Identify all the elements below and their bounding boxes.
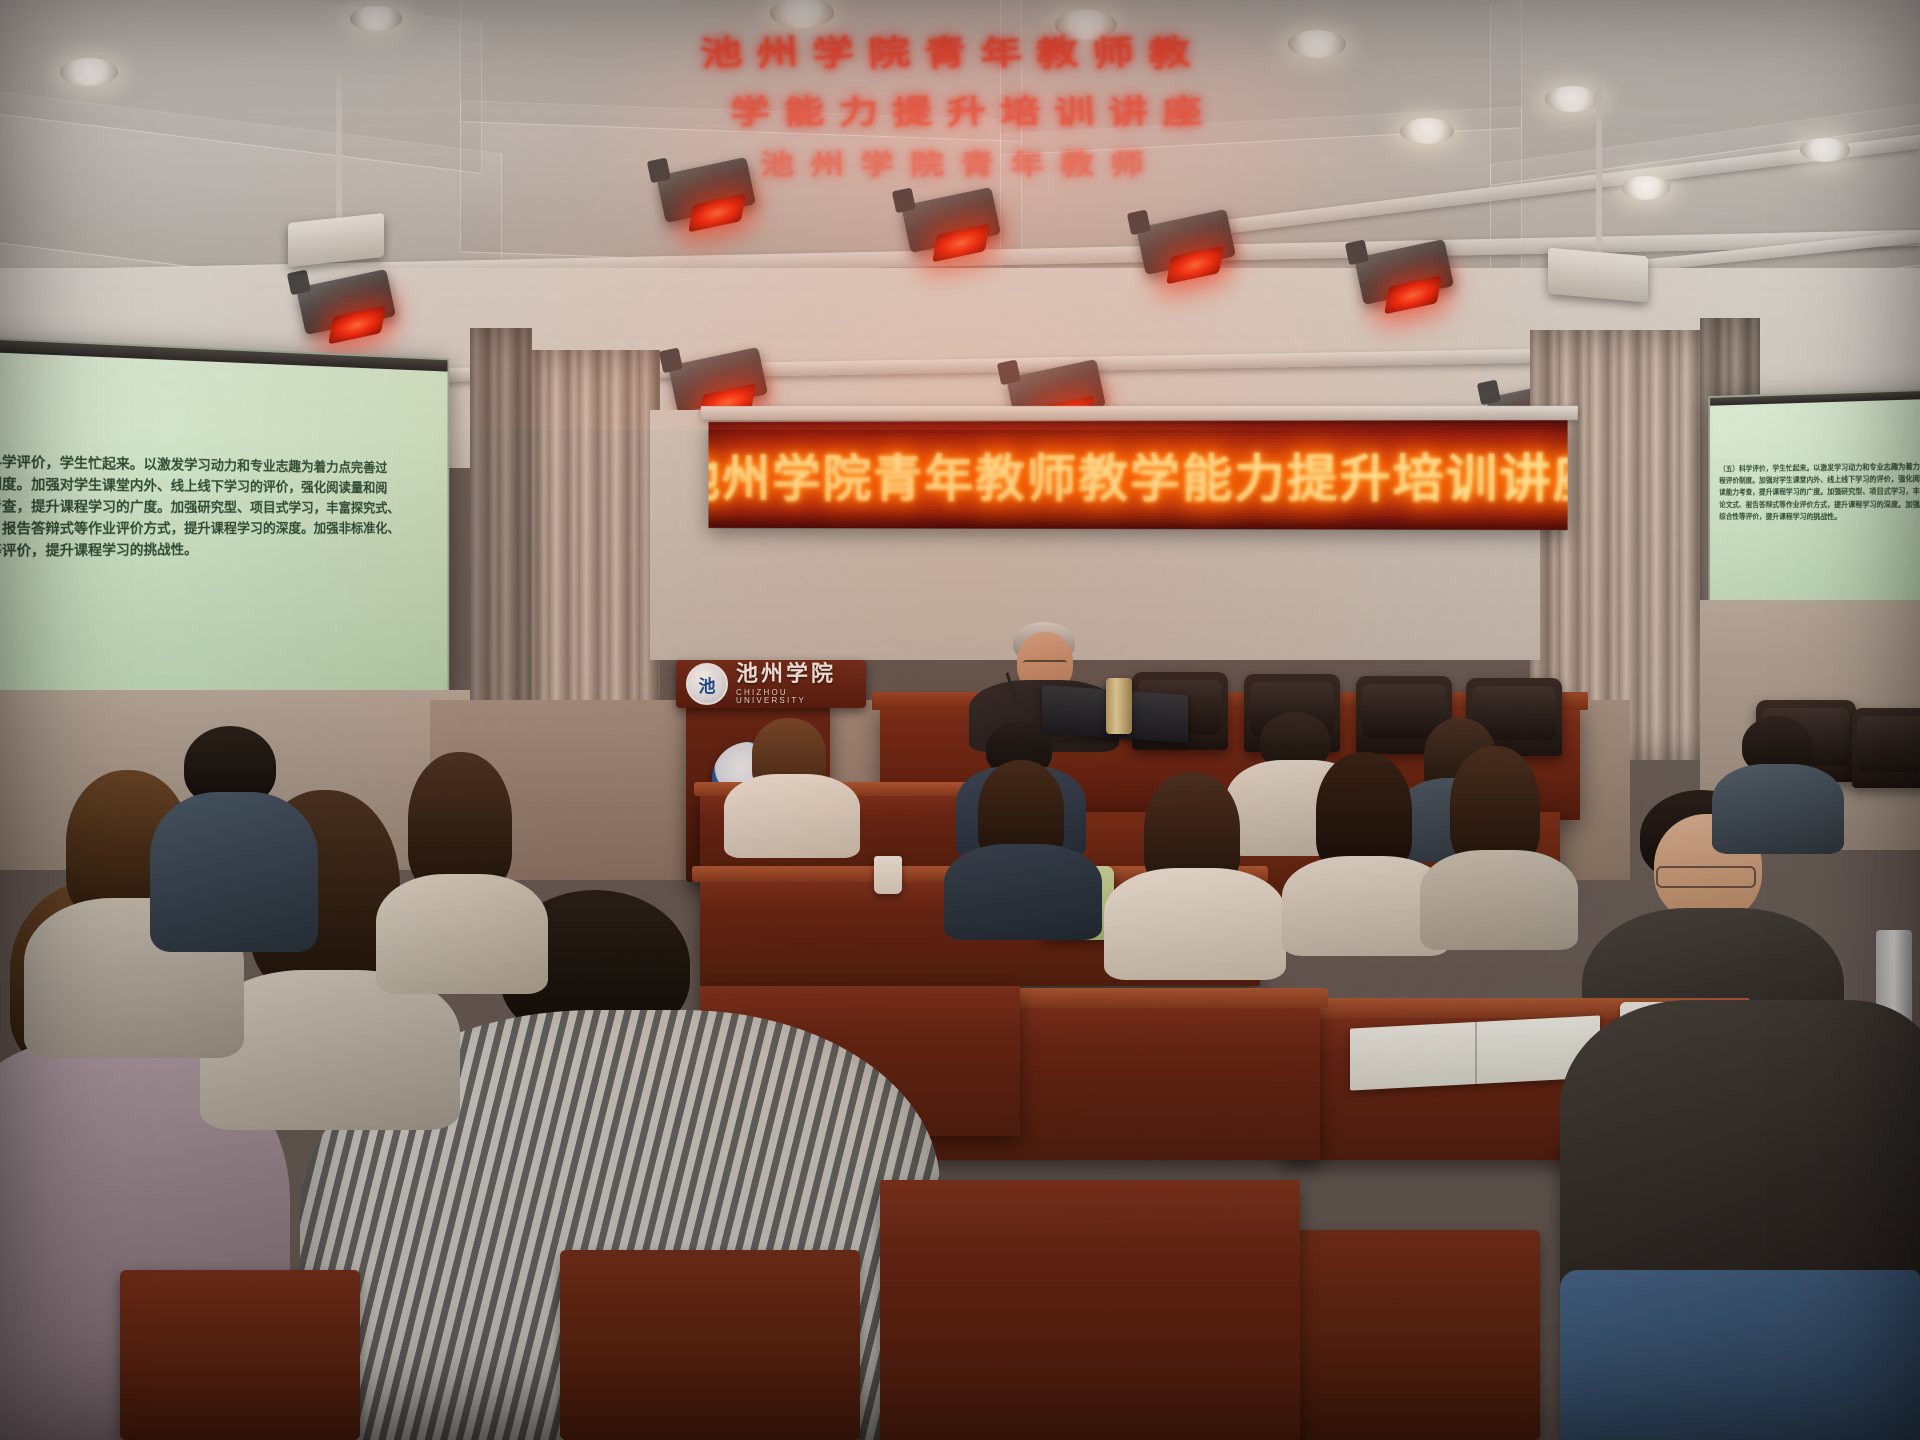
ceiling-downlight (1545, 86, 1599, 112)
lecture-hall-photo: 池州学院青年教师教学能力提升培训讲座池州学院青年教师 池州学院青年教师教学能力提… (0, 0, 1920, 1440)
attendee-jeans (1560, 1270, 1920, 1440)
podium-nameplate: 池 池州学院 CHIZHOU UNIVERSITY (676, 660, 866, 708)
led-banner: 池州学院青年教师教学能力提升培训讲座 (708, 417, 1567, 530)
led-banner-text: 池州学院青年教师教学能力提升培训讲座 (708, 438, 1567, 512)
attendee-foreground (1560, 880, 1920, 1300)
attendee (948, 760, 1098, 930)
audience-chair[interactable] (560, 1250, 860, 1440)
attendee (726, 718, 856, 848)
reflection-character: 州 (754, 25, 799, 77)
reflection-character: 培 (999, 85, 1041, 133)
attendee (1110, 772, 1280, 972)
paper-cup (874, 856, 902, 894)
attendee-body (1104, 868, 1286, 980)
reflection-character: 学 (810, 25, 855, 77)
reflection-character: 提 (891, 85, 933, 133)
slide-line: 读能力考查，提升课程学习的广度。加强研究型、项目式学习，丰富探究式、 (1719, 486, 1920, 500)
reflection-character: 年 (1009, 142, 1044, 182)
left-screen: （五）科学评价，学生忙起来。以激发学习动力和专业志趣为着力点完善过 程评价制度。… (0, 336, 449, 716)
ceiling-downlight (60, 58, 118, 86)
emblem-glyph: 池 (699, 672, 716, 697)
reflection-character: 升 (945, 85, 987, 133)
audience-chair[interactable] (120, 1270, 360, 1440)
reflection-character: 池 (759, 142, 794, 182)
reflection-character: 讲 (1107, 85, 1149, 133)
reflection-character: 学 (729, 85, 771, 133)
presenter-glasses-icon (1023, 660, 1067, 671)
attendee (1712, 716, 1842, 846)
reflection-character: 训 (1053, 85, 1095, 133)
reflection-character: 教 (1034, 25, 1079, 77)
reflection-character: 青 (959, 142, 994, 182)
podium-cn-name: 池州学院 (736, 664, 856, 686)
reflection-character: 教 (1059, 142, 1094, 182)
attendee (150, 726, 310, 946)
attendee-hair (1450, 746, 1540, 866)
slide-line: 论文式、报告答辩式等作业评价方式，提升课程学习的深度。加强非标准化、 (0, 518, 449, 540)
attendee-body (944, 844, 1102, 940)
stage-curtain-left-inner (470, 328, 532, 748)
stage-chair[interactable] (1852, 708, 1920, 788)
podium-en-name: CHIZHOU UNIVERSITY (736, 689, 856, 705)
audience-desk-foreground (880, 1180, 1300, 1440)
reflection-character: 能 (783, 85, 825, 133)
reflection-character: 池 (698, 25, 743, 77)
reflection-character: 州 (809, 142, 844, 182)
banner-top-trim (701, 406, 1578, 420)
reflection-character: 教 (1146, 25, 1191, 77)
slide-line: 综合性等评价，提升课程学习的挑战性。 (0, 539, 449, 563)
slide-line: 读能力考查，提升课程学习的广度。加强研究型、项目式学习，丰富探究式、 (0, 496, 449, 519)
thermos-flask (1106, 678, 1132, 734)
attendee (380, 752, 540, 982)
ceiling-downlight (1622, 176, 1670, 200)
reflection-character: 座 (1161, 85, 1203, 133)
projector-mount-arm (336, 72, 342, 220)
reflection-character: 学 (859, 142, 894, 182)
slide-line: 论文式、报告答辩式等作业评价方式，提升课程学习的深度。加强非标准化、 (1719, 498, 1920, 511)
right-screen-slide-text: （五）科学评价，学生忙起来。以激发学习动力和专业志趣为着力点完善过 程评价制度。… (1719, 460, 1920, 523)
reflection-character: 院 (909, 142, 944, 182)
ceiling-downlight (1800, 138, 1850, 162)
slide-line: 综合性等评价，提升课程学习的挑战性。 (1719, 511, 1920, 524)
attendee (1424, 746, 1574, 936)
attendee-body (1420, 850, 1578, 950)
university-emblem-icon: 池 (686, 663, 728, 705)
projector-mount-arm (1596, 86, 1602, 254)
ceiling-projector (1548, 248, 1648, 303)
reflection-character: 院 (866, 25, 911, 77)
attendee-hair (408, 752, 512, 892)
attendee-body (150, 792, 318, 952)
ceiling-downlight (350, 6, 402, 31)
left-screen-slide-text: （五）科学评价，学生忙起来。以激发学习动力和专业志趣为着力点完善过 程评价制度。… (0, 451, 449, 563)
reflection-character: 青 (922, 25, 967, 77)
ceiling-downlight (1400, 118, 1454, 144)
reflection-character: 力 (837, 85, 879, 133)
reflection-character: 师 (1109, 142, 1144, 182)
reflection-character: 年 (978, 25, 1023, 77)
reflection-character: 师 (1090, 25, 1135, 77)
attendee-body (724, 774, 860, 858)
attendee-body (1712, 764, 1844, 854)
attendee-body (376, 874, 548, 994)
